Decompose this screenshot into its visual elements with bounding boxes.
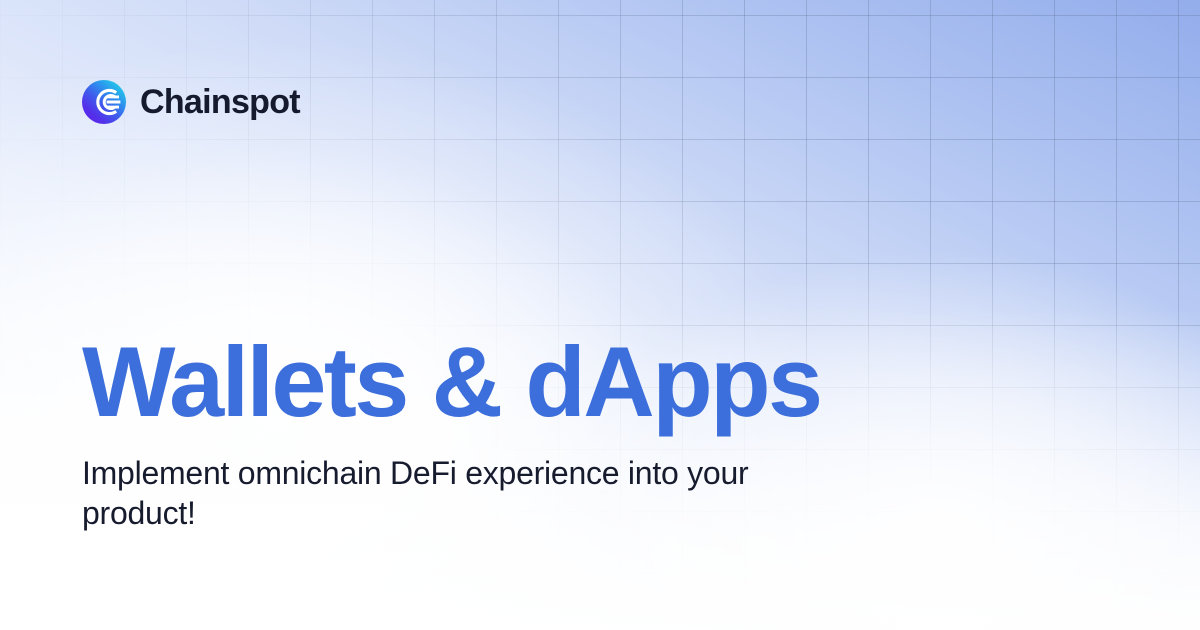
brand-logo-lockup[interactable]: Chainspot	[82, 80, 300, 124]
chainspot-circle-logo-icon	[82, 80, 126, 124]
hero-subheadline: Implement omnichain DeFi experience into…	[82, 453, 842, 533]
promo-banner: Chainspot Wallets & dApps Implement omni…	[0, 0, 1200, 630]
brand-wordmark: Chainspot	[140, 85, 300, 119]
hero-headline: Wallets & dApps	[82, 332, 942, 431]
hero-text-block: Wallets & dApps Implement omnichain DeFi…	[82, 332, 942, 533]
banner-content: Chainspot Wallets & dApps Implement omni…	[0, 0, 1200, 630]
